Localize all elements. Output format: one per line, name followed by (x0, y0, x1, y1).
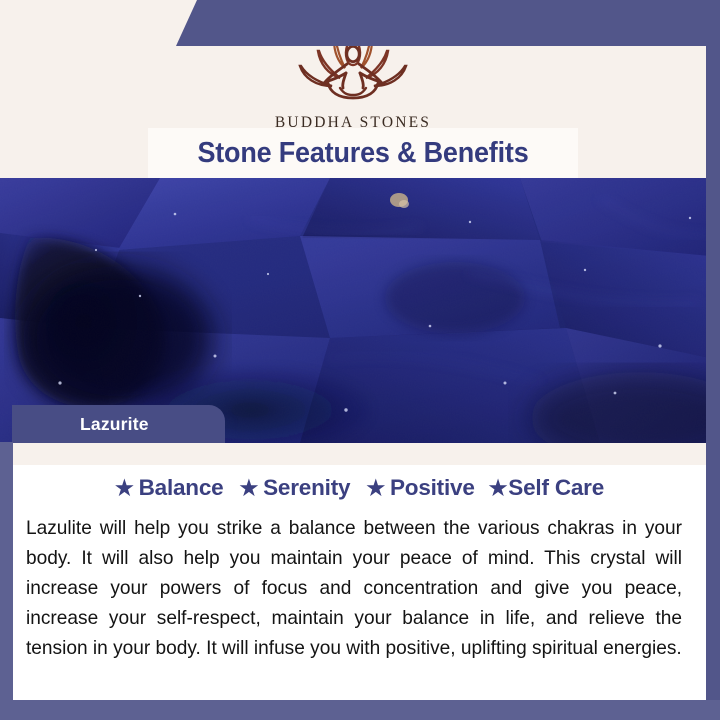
benefit-label: Balance (139, 475, 224, 501)
benefit-item-positive: ★ Positive (366, 475, 474, 501)
benefit-item-serenity: ★ Serenity (239, 475, 350, 501)
benefit-label: Self Care (508, 475, 604, 501)
frame-border-right (706, 0, 720, 720)
benefits-list: ★ Balance ★ Serenity ★ Positive ★ Self C… (13, 475, 706, 501)
stone-description: Lazulite will help you strike a balance … (26, 513, 682, 663)
star-icon: ★ (366, 478, 385, 499)
lapis-lazuli-stone-image (0, 178, 710, 443)
star-icon: ★ (489, 478, 508, 499)
star-icon: ★ (115, 478, 134, 499)
stone-info-poster: BUDDHA STONES Stone Features & Benefits (0, 0, 720, 720)
cream-divider (13, 443, 706, 465)
stone-name: Lazurite (80, 414, 149, 435)
body-panel: ★ Balance ★ Serenity ★ Positive ★ Self C… (13, 443, 706, 700)
stone-name-banner: Lazurite (12, 405, 225, 443)
frame-border-bottom (0, 700, 720, 720)
page-title: Stone Features & Benefits (197, 137, 528, 170)
benefit-label: Serenity (263, 475, 350, 501)
frame-border-left (0, 442, 13, 720)
benefit-label: Positive (390, 475, 475, 501)
page-title-strip: Stone Features & Benefits (148, 128, 578, 178)
benefit-item-self-care: ★ Self Care (489, 475, 604, 501)
stone-photo (0, 178, 710, 443)
star-icon: ★ (239, 478, 258, 499)
benefit-item-balance: ★ Balance (115, 475, 224, 501)
